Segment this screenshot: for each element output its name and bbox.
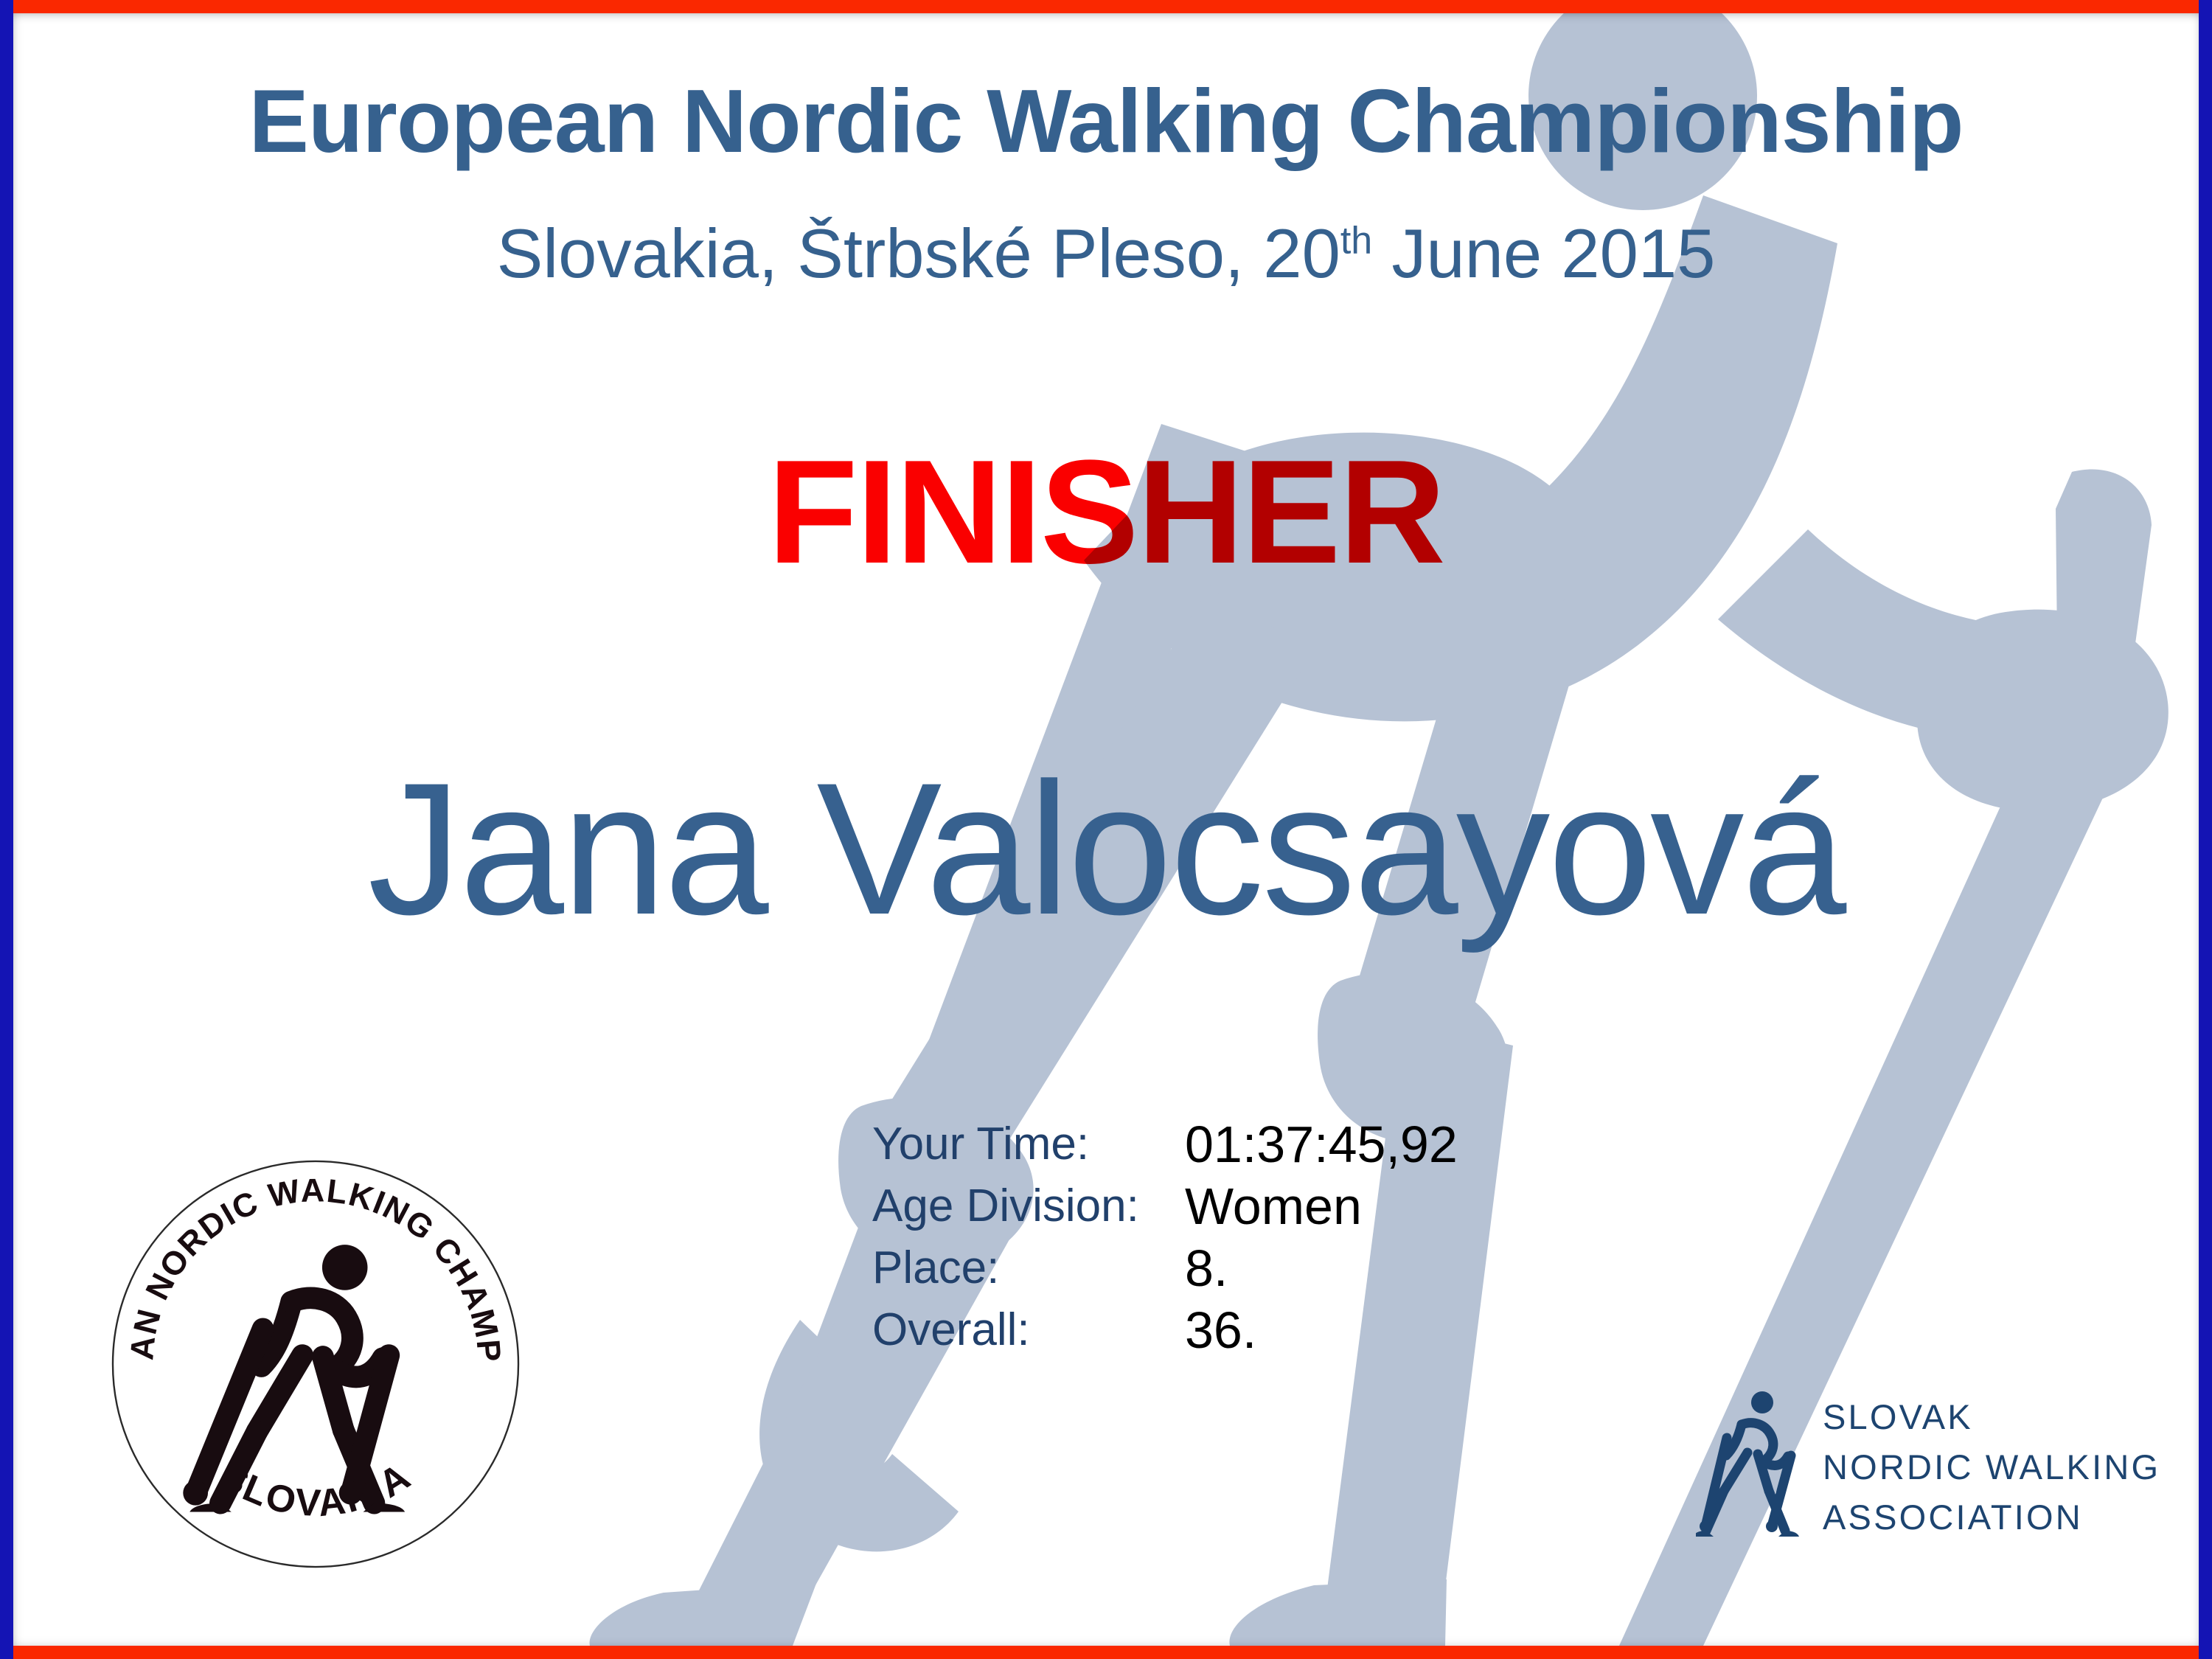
snwa-wordmark: SLOVAK NORDIC WALKING ASSOCIATION: [1823, 1392, 2160, 1543]
result-value-overall: 36.: [1185, 1301, 1458, 1359]
result-label-overall: Overall:: [872, 1301, 1185, 1359]
result-value-your-time: 01:37:45,92: [1185, 1116, 1458, 1173]
results-table: Your Time: 01:37:45,92 Age Division: Wom…: [872, 1116, 1458, 1359]
location-date-prefix: Slovakia, Štrbské Pleso, 20: [497, 215, 1340, 292]
certificate-canvas: European Nordic Walking Championship Slo…: [0, 0, 2212, 1659]
status-badge: FINISHER: [0, 428, 2212, 597]
slovak-nordic-walking-association-logo: SLOVAK NORDIC WALKING ASSOCIATION: [1696, 1375, 2131, 1559]
result-label-age-division: Age Division:: [872, 1178, 1185, 1235]
emblem-pole-tip-rear: [183, 1481, 208, 1506]
emblem-head: [322, 1245, 368, 1290]
result-value-age-division: Women: [1185, 1178, 1458, 1235]
location-date-suffix: June 2015: [1372, 215, 1715, 292]
event-location-date: Slovakia, Štrbské Pleso, 20th June 2015: [0, 214, 2212, 293]
emblem-pole-tip-front: [339, 1481, 363, 1505]
page-title: European Nordic Walking Championship: [0, 69, 2212, 173]
snwa-walker-icon: [1696, 1379, 1806, 1556]
snwa-line-2: NORDIC WALKING: [1823, 1442, 2160, 1492]
border-right: [2199, 0, 2212, 1659]
result-label-your-time: Your Time:: [872, 1116, 1185, 1173]
snwa-line-3: ASSOCIATION: [1823, 1492, 2160, 1543]
snwa-line-1: SLOVAK: [1823, 1392, 2160, 1442]
border-bottom: [0, 1646, 2212, 1659]
enwc-emblem-logo: EUROPEAN NORDIC WALKING CHAMPIONSHIP SLO…: [111, 1159, 521, 1569]
ordinal-suffix: th: [1340, 220, 1372, 262]
result-label-place: Place:: [872, 1239, 1185, 1297]
border-left: [0, 0, 13, 1659]
border-top: [0, 0, 2212, 13]
athlete-name: Jana Valocsayová: [0, 741, 2212, 957]
result-value-place: 8.: [1185, 1239, 1458, 1297]
